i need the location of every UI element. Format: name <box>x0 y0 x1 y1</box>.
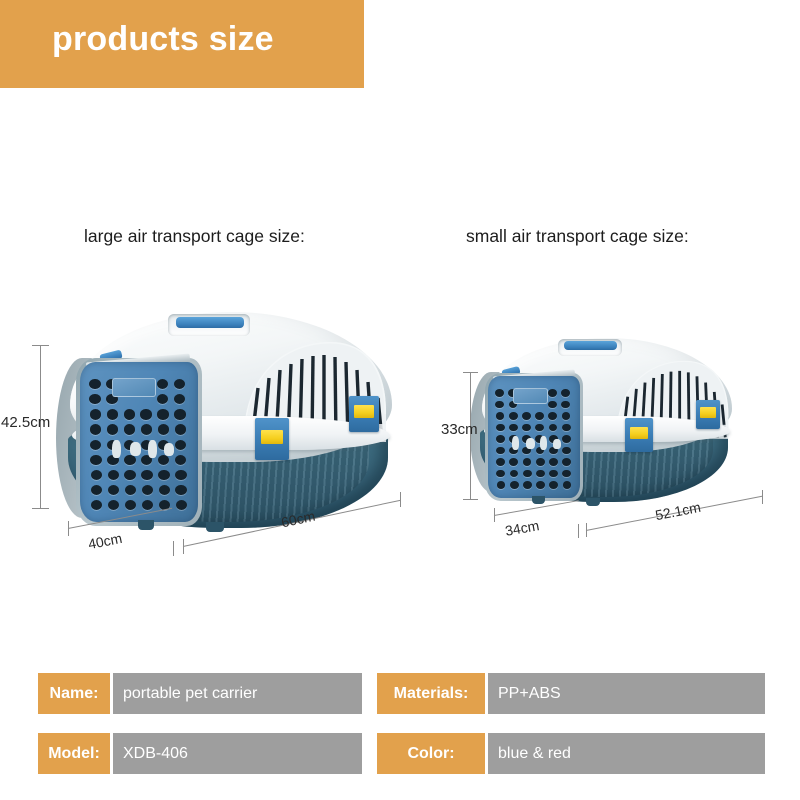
door-vent-hole <box>90 455 101 465</box>
door-vent-hole <box>562 458 571 466</box>
door-vent-hole <box>157 394 168 404</box>
spec-label-materials: Materials: <box>377 673 485 714</box>
carrier-latch-rear-tab[interactable] <box>354 405 374 418</box>
door-vent-hole <box>496 412 505 420</box>
carrier-paw-motif-3 <box>540 436 547 450</box>
door-vent-hole <box>89 379 100 389</box>
door-vent-hole <box>174 409 185 419</box>
door-vent-hole <box>175 485 186 495</box>
door-vent-hole <box>175 440 186 450</box>
door-vent-hole <box>496 458 505 466</box>
door-vent-hole <box>107 424 118 434</box>
carrier-paw-motif-2 <box>526 438 535 449</box>
door-vent-hole <box>549 470 558 478</box>
door-vent-hole <box>549 424 558 432</box>
door-vent-hole <box>125 485 136 495</box>
door-vent-hole <box>561 389 570 397</box>
door-vent-hole <box>561 401 570 409</box>
door-vent-hole <box>536 470 545 478</box>
door-vent-hole <box>107 409 118 419</box>
door-vent-hole <box>108 500 119 510</box>
carrier-door-latch-plate[interactable] <box>513 388 548 404</box>
door-vent-hole <box>496 424 505 432</box>
door-vent-hole <box>90 409 101 419</box>
carrier-paw-motif-2 <box>130 442 141 456</box>
door-vent-hole <box>157 379 168 389</box>
spec-value-color: blue & red <box>488 733 765 774</box>
door-vent-hole <box>141 424 152 434</box>
door-vent-hole <box>91 500 102 510</box>
dim-cap-height-small-bottom <box>463 499 478 500</box>
door-vent-hole <box>536 458 545 466</box>
carrier-paw-motif-3 <box>148 440 157 458</box>
door-vent-hole <box>124 470 135 480</box>
spec-label-name: Name: <box>38 673 110 714</box>
door-vent-hole <box>175 470 186 480</box>
carrier-latch-front-tab[interactable] <box>261 430 283 444</box>
door-vent-hole <box>509 424 518 432</box>
carrier-foot-left <box>138 520 154 530</box>
door-vent-hole <box>90 424 101 434</box>
door-vent-hole <box>509 412 518 420</box>
door-vent-hole <box>523 458 532 466</box>
door-vent-hole <box>495 389 504 397</box>
door-vent-hole <box>496 435 505 443</box>
door-vent-hole <box>89 394 100 404</box>
door-vent-hole <box>510 470 519 478</box>
door-vent-hole <box>125 500 136 510</box>
carrier-paw-motif-4 <box>553 439 561 449</box>
door-vent-hole <box>562 435 571 443</box>
spec-value-name: portable pet carrier <box>113 673 362 714</box>
door-vent-hole <box>142 485 153 495</box>
door-vent-hole <box>159 485 170 495</box>
door-vent-hole <box>510 481 519 489</box>
door-vent-hole <box>158 455 169 465</box>
door-vent-hole <box>496 447 505 455</box>
door-vent-hole <box>90 440 101 450</box>
door-vent-hole <box>91 470 102 480</box>
carrier-paw-motif-1 <box>512 436 519 450</box>
door-vent-hole <box>522 424 531 432</box>
carrier-foot-right <box>586 498 600 506</box>
page-title: products size <box>52 20 274 59</box>
door-vent-hole <box>158 424 169 434</box>
dim-cap-height-small-top <box>463 372 478 373</box>
door-vent-hole <box>141 470 152 480</box>
door-vent-hole <box>548 401 557 409</box>
door-vent-hole <box>157 409 168 419</box>
dim-cap-length-small-end <box>762 490 763 504</box>
spec-value-materials: PP+ABS <box>488 673 765 714</box>
dim-cap-depth-large-start <box>68 521 69 536</box>
spec-label-model: Model: <box>38 733 110 774</box>
spec-label-color: Color: <box>377 733 485 774</box>
door-vent-hole <box>108 485 119 495</box>
door-vent-hole <box>522 412 531 420</box>
door-vent-hole <box>124 409 135 419</box>
carrier-paw-motif-4 <box>164 443 174 456</box>
door-vent-hole <box>562 470 571 478</box>
door-vent-hole <box>158 470 169 480</box>
door-vent-hole <box>549 458 558 466</box>
door-vent-hole <box>535 412 544 420</box>
carrier-paw-motif-1 <box>112 440 121 458</box>
dim-cap-height-large-top <box>32 345 49 346</box>
door-vent-hole <box>176 500 187 510</box>
door-vent-hole <box>523 470 532 478</box>
door-vent-hole <box>509 458 518 466</box>
dim-cap-depth-small-start <box>494 508 495 522</box>
door-vent-hole <box>91 485 102 495</box>
carrier-foot-right <box>206 522 224 532</box>
carrier-top-handle[interactable] <box>564 341 617 350</box>
door-vent-hole <box>497 481 506 489</box>
door-vent-hole <box>548 389 557 397</box>
dim-cap-depth-large-end <box>173 541 174 556</box>
door-vent-hole <box>562 447 571 455</box>
door-vent-hole <box>535 424 544 432</box>
door-vent-hole <box>562 424 571 432</box>
dim-label-height-large: 42.5cm <box>1 414 50 431</box>
carrier-top-handle[interactable] <box>176 317 244 328</box>
section-heading-large-cage: large air transport cage size: <box>84 226 305 247</box>
door-vent-hole <box>142 500 153 510</box>
door-vent-hole <box>548 412 557 420</box>
door-vent-hole <box>124 455 135 465</box>
door-vent-hole <box>108 470 119 480</box>
door-vent-hole <box>174 394 185 404</box>
door-vent-hole <box>175 455 186 465</box>
dim-cap-length-large-start <box>183 539 184 554</box>
dim-cap-length-small-start <box>586 523 587 537</box>
door-vent-hole <box>496 470 505 478</box>
carrier-foot-left <box>532 496 545 504</box>
carrier-latch-front-tab[interactable] <box>630 427 648 439</box>
door-vent-hole <box>124 424 135 434</box>
door-vent-hole <box>563 481 572 489</box>
door-vent-hole <box>495 401 504 409</box>
dim-label-height-small: 33cm <box>441 421 478 438</box>
spec-value-model: XDB-406 <box>113 733 362 774</box>
dim-cap-depth-small-end <box>578 524 579 538</box>
carrier-door-latch-plate[interactable] <box>112 378 156 397</box>
dim-cap-length-large-end <box>400 492 401 507</box>
door-vent-hole <box>523 481 532 489</box>
carrier-latch-rear-tab[interactable] <box>700 407 716 418</box>
dim-cap-height-large-bottom <box>32 508 49 509</box>
door-vent-hole <box>175 424 186 434</box>
product-figure-small <box>440 330 780 565</box>
door-vent-hole <box>562 412 571 420</box>
door-vent-hole <box>536 481 545 489</box>
section-heading-small-cage: small air transport cage size: <box>466 226 689 247</box>
door-vent-hole <box>174 379 185 389</box>
door-vent-hole <box>140 409 151 419</box>
door-vent-hole <box>549 481 558 489</box>
